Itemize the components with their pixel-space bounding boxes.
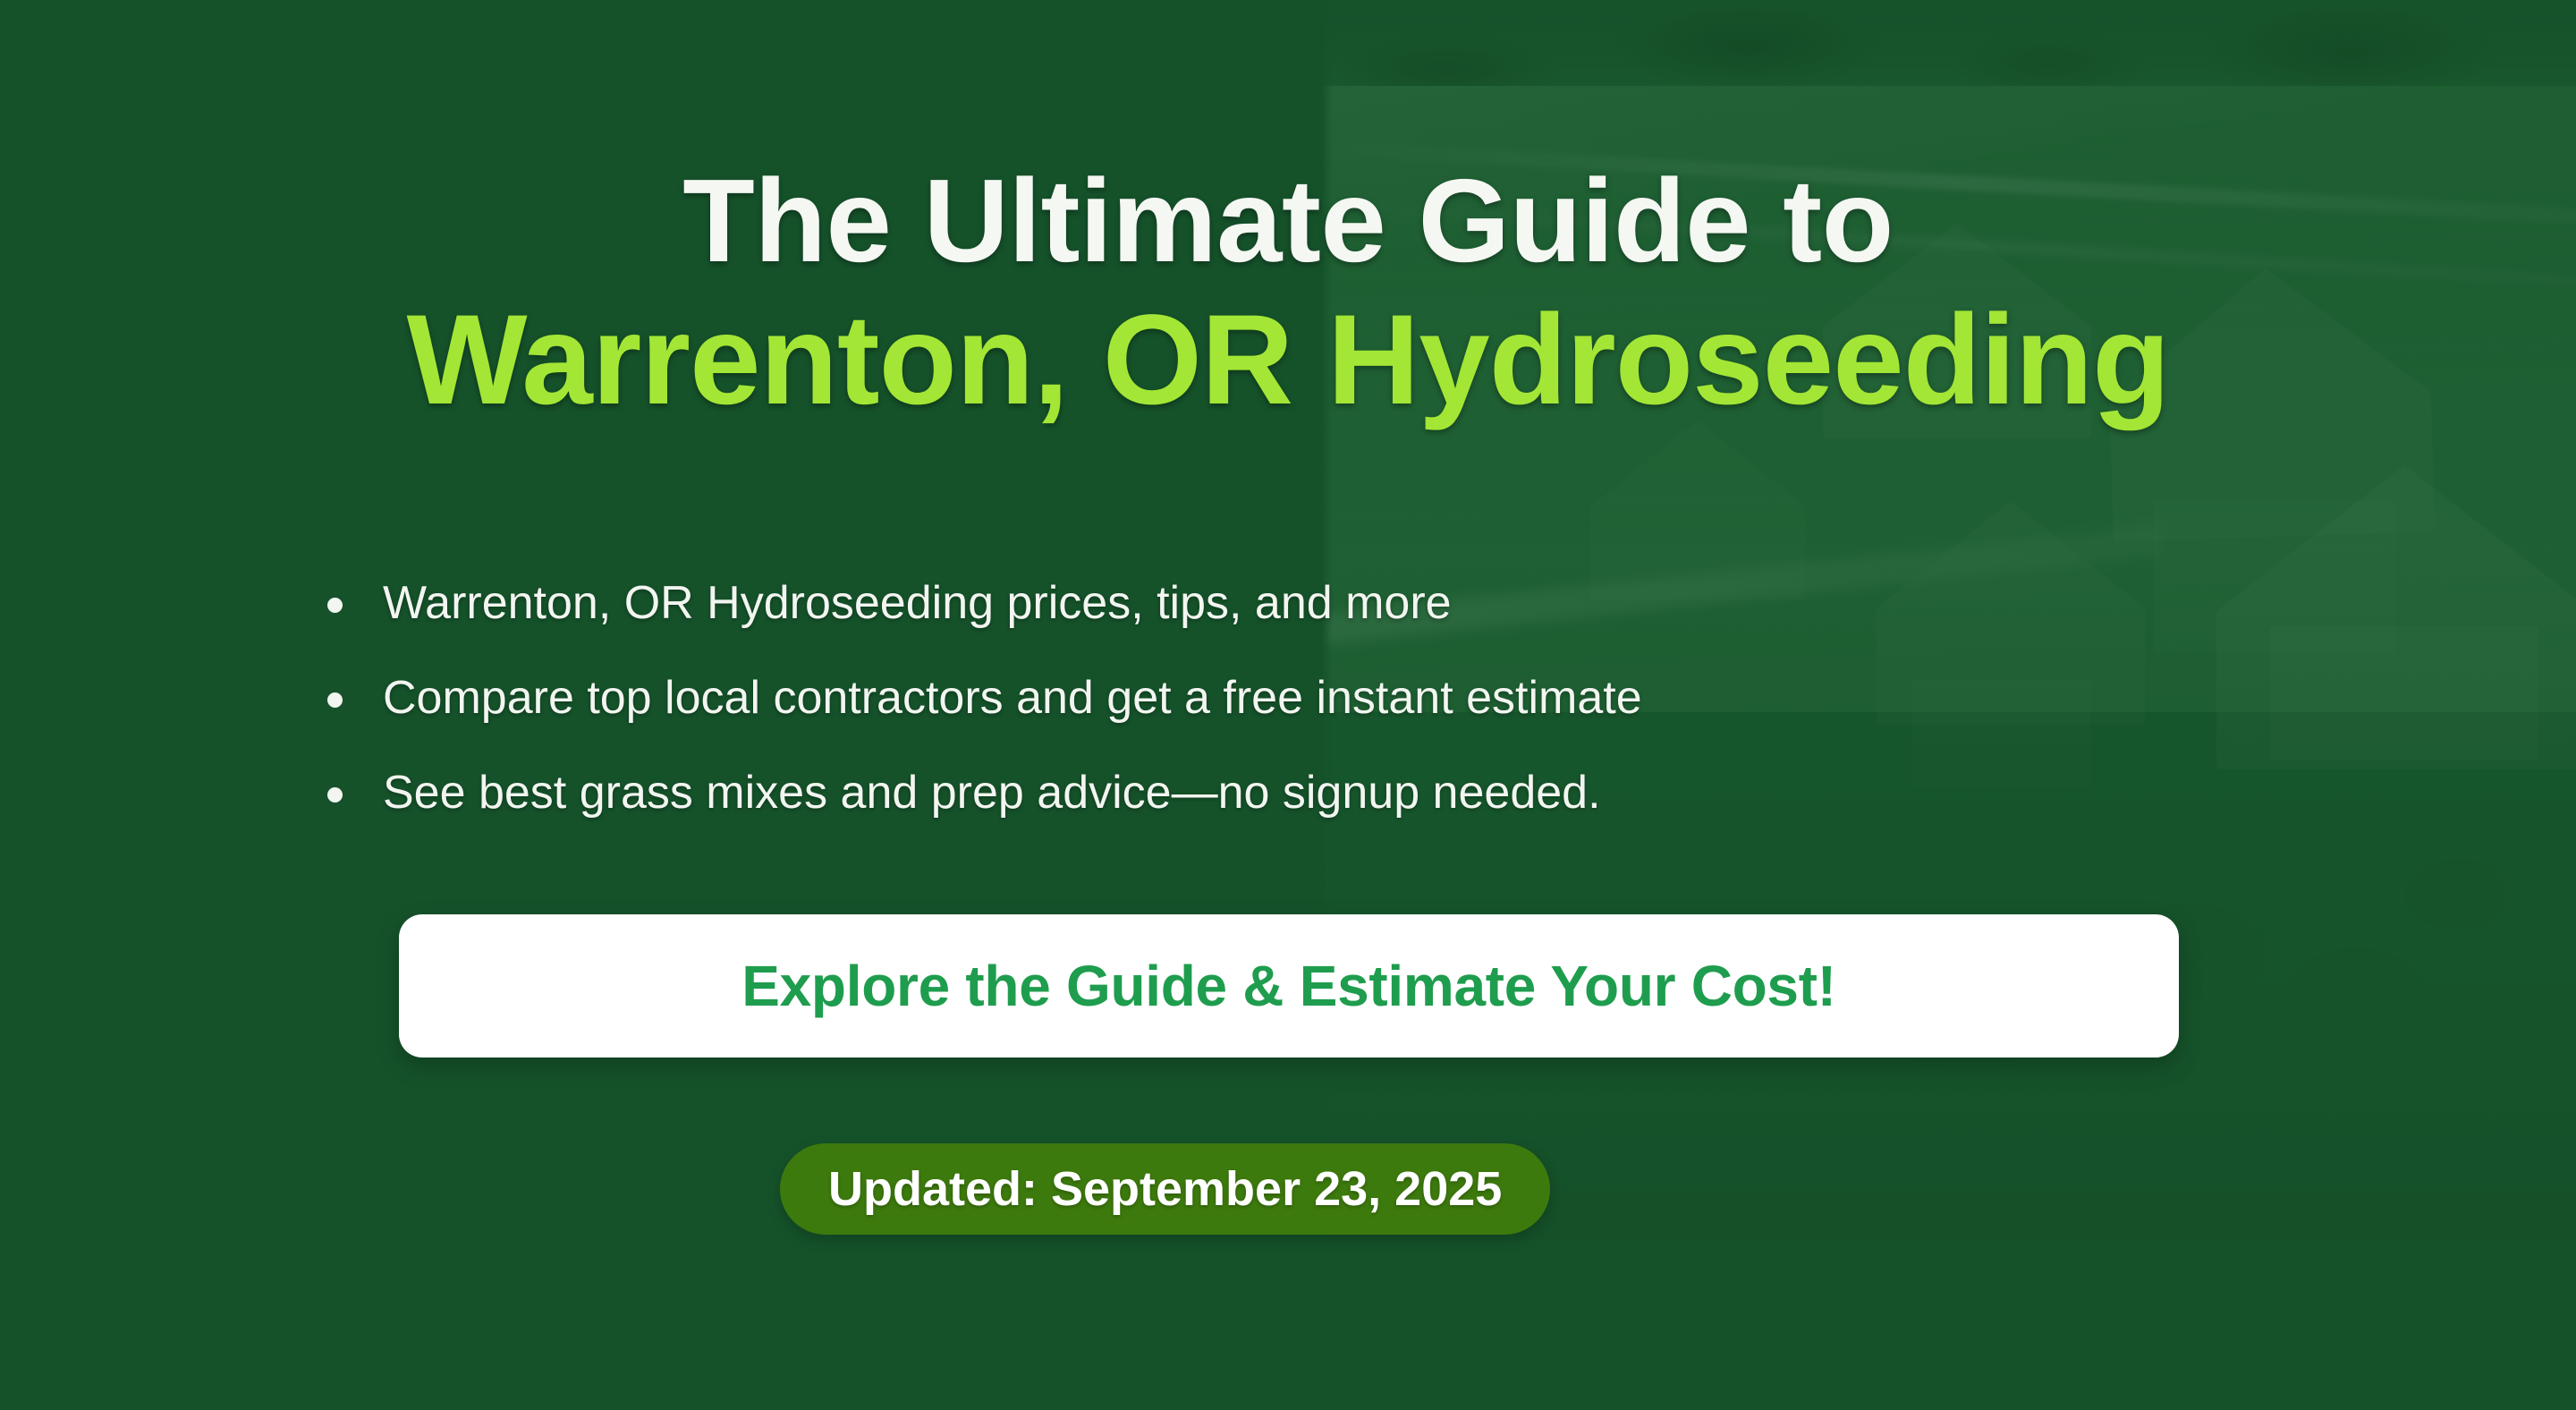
banner-content: The Ultimate Guide to Warrenton, OR Hydr…: [0, 0, 2576, 1410]
explore-guide-button[interactable]: Explore the Guide & Estimate Your Cost!: [399, 914, 2179, 1057]
page-title: The Ultimate Guide to Warrenton, OR Hydr…: [0, 159, 2576, 428]
headline-line-accent: Warrenton, OR Hydroseeding: [0, 294, 2576, 428]
benefit-list: Warrenton, OR Hydroseeding prices, tips,…: [327, 580, 2250, 864]
hero-banner: The Ultimate Guide to Warrenton, OR Hydr…: [0, 0, 2576, 1410]
list-item: Compare top local contractors and get a …: [327, 675, 2250, 721]
explore-guide-button-label: Explore the Guide & Estimate Your Cost!: [741, 953, 1836, 1019]
headline-line-primary: The Ultimate Guide to: [0, 159, 2576, 282]
list-item: Warrenton, OR Hydroseeding prices, tips,…: [327, 580, 2250, 626]
updated-date-badge: Updated: September 23, 2025: [780, 1143, 1550, 1235]
list-item: See best grass mixes and prep advice—no …: [327, 769, 2250, 816]
updated-date-label: Updated: September 23, 2025: [828, 1161, 1502, 1217]
